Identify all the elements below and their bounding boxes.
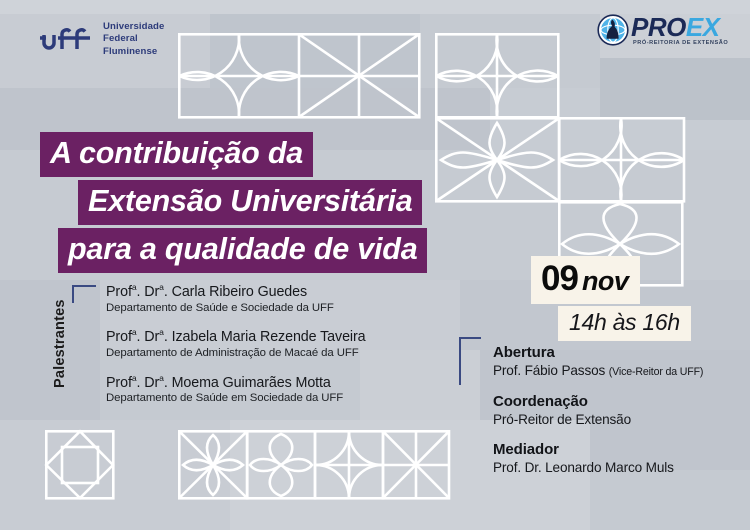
program-person-name: Pró-Reitor de Extensão xyxy=(493,412,631,427)
speakers-section: Palestrantes Profa. Dra. Carla Ribeiro G… xyxy=(52,282,366,406)
program-role: Abertura xyxy=(493,344,703,361)
title-line-2: Extensão Universitária xyxy=(78,180,422,225)
program-role: Coordenação xyxy=(493,393,703,410)
list-item: Mediador Prof. Dr. Leonardo Marco Muls xyxy=(493,441,703,477)
program-person: Prof. Dr. Leonardo Marco Muls xyxy=(493,460,703,476)
event-month: nov xyxy=(582,266,629,296)
speaker-title-prefix: Prof xyxy=(106,284,132,300)
pattern-tiles-top-left xyxy=(178,33,421,119)
bg-panel xyxy=(590,470,750,530)
speaker-title-prefix: Prof xyxy=(106,374,132,390)
uff-line-3: Fluminense xyxy=(103,46,164,58)
speaker-person-name: . Moema Guimarães Motta xyxy=(164,374,331,390)
bg-panel xyxy=(600,58,750,120)
speaker-name: Profa. Dra. Izabela Maria Rezende Taveir… xyxy=(106,327,366,346)
program-role: Mediador xyxy=(493,441,703,458)
event-date-block: 09nov 14h às 16h xyxy=(531,256,691,341)
program-person-name: Prof. Dr. Leonardo Marco Muls xyxy=(493,460,674,475)
uff-monogram-icon xyxy=(40,26,96,52)
pattern-tiles-top-mid xyxy=(435,33,560,119)
proex-part-pro: PRO xyxy=(631,12,686,42)
speakers-bracket xyxy=(70,282,96,406)
program-section: Abertura Prof. Fábio Passos (Vice-Reitor… xyxy=(458,336,703,477)
uff-logo: Universidade Federal Fluminense xyxy=(40,21,164,58)
title-line-1-row: A contribuição da xyxy=(40,132,560,177)
proex-subtitle: PRÓ-REITORIA DE EXTENSÃO xyxy=(633,41,728,47)
bg-panel xyxy=(0,420,230,530)
title-line-2-row: Extensão Universitária xyxy=(78,180,560,225)
speaker-name: Profa. Dra. Carla Ribeiro Guedes xyxy=(106,282,366,301)
list-item: Profa. Dra. Carla Ribeiro Guedes Departa… xyxy=(106,282,366,315)
speaker-department: Departamento de Saúde em Sociedade da UF… xyxy=(106,392,366,406)
page-title: A contribuição da Extensão Universitária… xyxy=(0,132,560,276)
uff-line-2: Federal xyxy=(103,33,164,45)
program-person: Pró-Reitor de Extensão xyxy=(493,412,703,428)
title-line-3-row: para a qualidade de vida xyxy=(58,228,560,273)
list-item: Profa. Dra. Izabela Maria Rezende Taveir… xyxy=(106,327,366,360)
proex-name: PROEX xyxy=(631,14,728,40)
speaker-department: Departamento de Administração de Macaé d… xyxy=(106,347,366,361)
program-list: Abertura Prof. Fábio Passos (Vice-Reitor… xyxy=(493,344,703,477)
bg-panel xyxy=(210,0,420,88)
program-bracket xyxy=(458,336,480,386)
speakers-list: Profa. Dra. Carla Ribeiro Guedes Departa… xyxy=(106,282,366,406)
pattern-tile-bottom-square xyxy=(45,430,115,500)
speaker-title-mid: . Dr xyxy=(137,374,160,390)
speaker-name: Profa. Dra. Moema Guimarães Motta xyxy=(106,373,366,392)
speaker-person-name: . Carla Ribeiro Guedes xyxy=(164,284,307,300)
pattern-tiles-bottom-row xyxy=(178,430,450,500)
event-date: 09nov xyxy=(531,256,640,304)
list-item: Coordenação Pró-Reitor de Extensão xyxy=(493,393,703,429)
speakers-label: Palestrantes xyxy=(52,282,68,406)
uff-line-1: Universidade xyxy=(103,21,164,33)
event-poster: Universidade Federal Fluminense PROEX PR… xyxy=(0,0,750,530)
program-person: Prof. Fábio Passos (Vice-Reitor da UFF) xyxy=(493,363,703,379)
proex-part-ex: EX xyxy=(686,12,720,42)
speaker-department: Departamento de Saúde e Sociedade da UFF xyxy=(106,302,366,316)
date-main-row: 09nov xyxy=(531,256,691,304)
uff-wordmark: Universidade Federal Fluminense xyxy=(103,21,164,58)
program-person-note: (Vice-Reitor da UFF) xyxy=(609,366,704,378)
program-person-name: Prof. Fábio Passos xyxy=(493,363,609,378)
globe-icon xyxy=(597,14,629,46)
speaker-title-mid: . Dr xyxy=(137,284,160,300)
title-line-1: A contribuição da xyxy=(40,132,313,177)
speaker-title-mid: . Dr xyxy=(137,329,160,345)
list-item: Profa. Dra. Moema Guimarães Motta Depart… xyxy=(106,373,366,406)
title-line-3: para a qualidade de vida xyxy=(58,228,427,273)
speaker-person-name: . Izabela Maria Rezende Taveira xyxy=(164,329,366,345)
proex-logo: PROEX PRÓ-REITORIA DE EXTENSÃO xyxy=(597,14,728,47)
event-day: 09 xyxy=(541,259,578,298)
bg-panel xyxy=(420,0,600,120)
list-item: Abertura Prof. Fábio Passos (Vice-Reitor… xyxy=(493,344,703,380)
speaker-title-prefix: Prof xyxy=(106,329,132,345)
proex-wordmark: PROEX PRÓ-REITORIA DE EXTENSÃO xyxy=(631,14,728,47)
